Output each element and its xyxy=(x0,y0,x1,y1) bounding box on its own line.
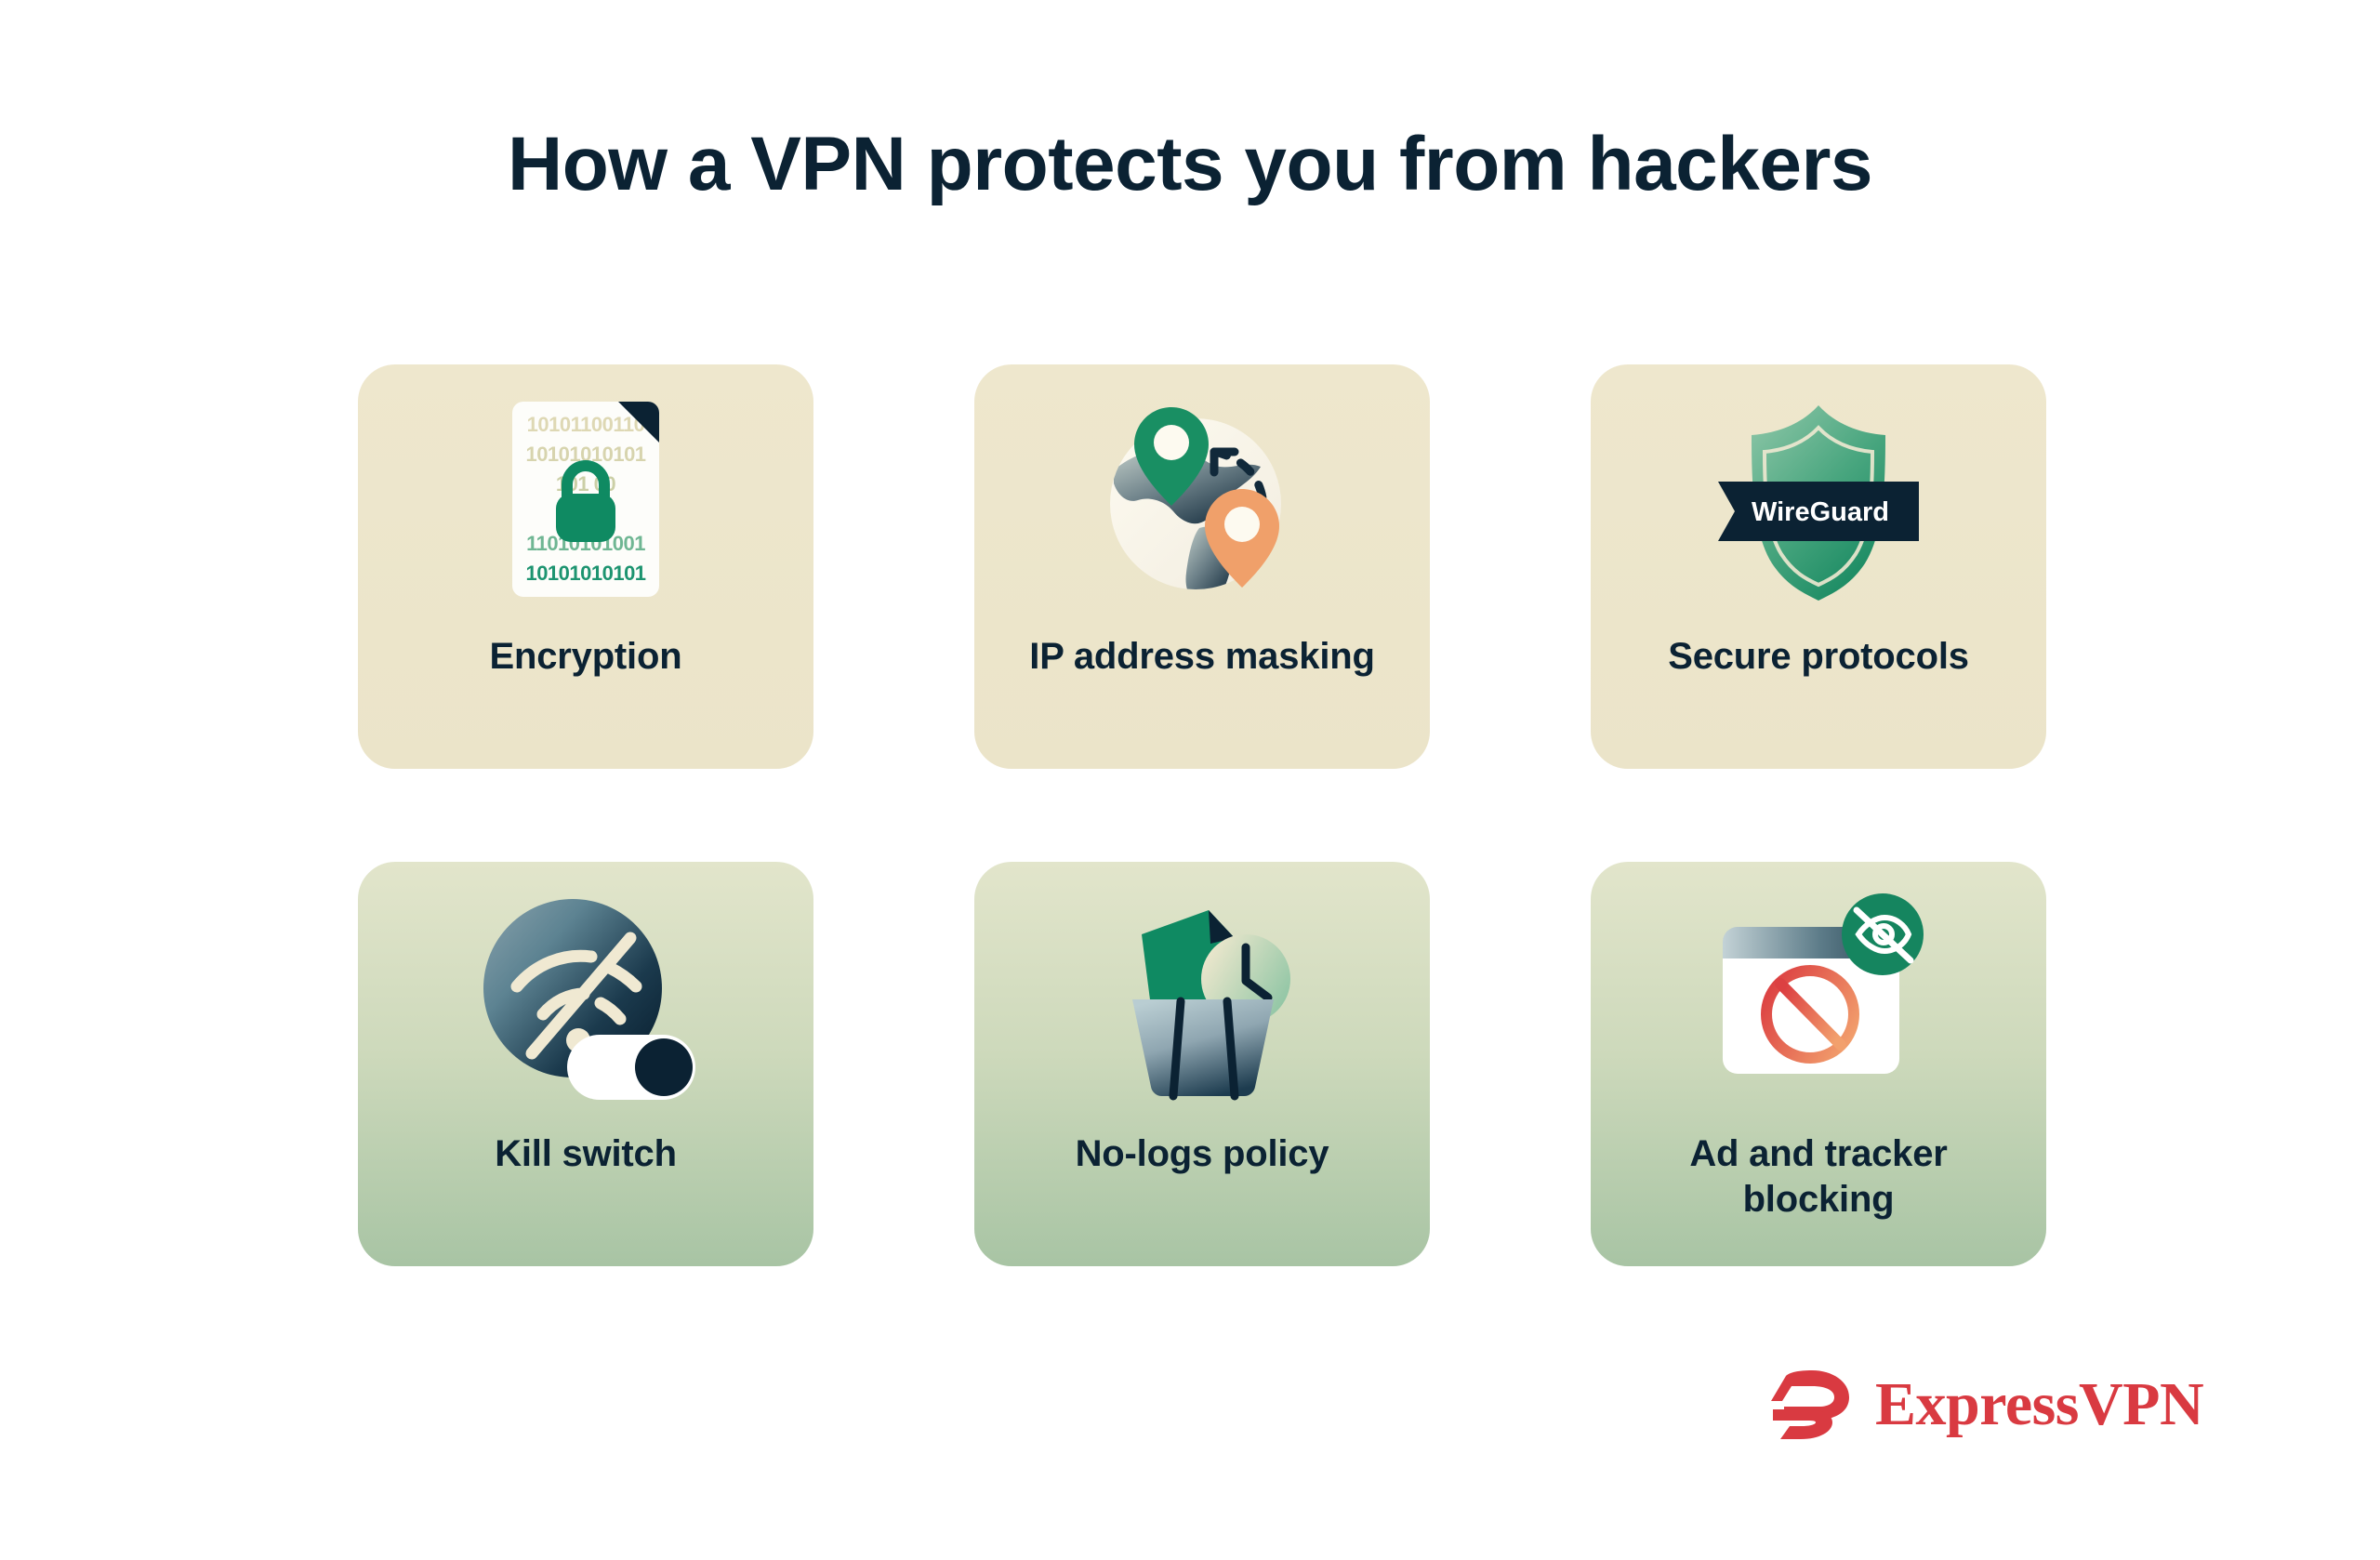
card-label: Ad and tracker blocking xyxy=(1608,1131,2029,1223)
browser-block-eye-off-icon xyxy=(1702,890,1935,1104)
wireguard-banner-text: WireGuard xyxy=(1752,497,1889,527)
feature-card-encryption[interactable]: 10101100110 10101010101 101 00 01 01 110… xyxy=(358,364,813,769)
feature-card-secure-protocols[interactable]: WireGuard Secure protocols xyxy=(1591,364,2046,769)
card-label: Kill switch xyxy=(480,1131,692,1177)
toggle-knob xyxy=(635,1038,693,1096)
card-label: IP address masking xyxy=(1014,634,1389,680)
expressvpn-wordmark: ExpressVPN xyxy=(1875,1374,2203,1435)
feature-card-ad-and-tracker-blocking[interactable]: Ad and tracker blocking xyxy=(1591,862,2046,1266)
feature-card-ip-address-masking[interactable]: IP address masking xyxy=(974,364,1430,769)
card-label: Encryption xyxy=(475,634,697,680)
secure-protocols-icon-area: WireGuard xyxy=(1591,364,2046,634)
wireguard-shield-icon: WireGuard xyxy=(1698,392,1939,606)
eye-off-badge-icon xyxy=(1842,893,1924,975)
encryption-icon-area: 10101100110 10101010101 101 00 01 01 110… xyxy=(358,364,813,634)
ad-blocking-icon-area xyxy=(1591,862,2046,1131)
ip-masking-icon-area xyxy=(974,364,1430,634)
padlock-icon xyxy=(547,456,625,542)
feature-card-kill-switch[interactable]: Kill switch xyxy=(358,862,813,1266)
document-fold-corner-icon xyxy=(618,402,659,443)
wifi-off-toggle-icon xyxy=(474,890,697,1104)
card-label: No-logs policy xyxy=(1061,1131,1344,1177)
card-label: Secure protocols xyxy=(1653,634,1984,680)
trash-document-clock-icon xyxy=(1095,890,1309,1104)
toggle-switch xyxy=(567,1035,695,1100)
expressvpn-e-logo-icon xyxy=(1771,1368,1851,1441)
globe-location-pins-icon xyxy=(1095,392,1309,606)
trash-bin-icon xyxy=(1132,999,1274,1096)
no-logs-icon-area xyxy=(974,862,1430,1131)
page-title: How a VPN protects you from hackers xyxy=(0,123,2380,206)
infographic-page: How a VPN protects you from hackers 1010… xyxy=(0,0,2380,1560)
encrypted-document-icon: 10101100110 10101010101 101 00 01 01 110… xyxy=(512,402,659,597)
kill-switch-icon-area xyxy=(358,862,813,1131)
wireguard-ribbon: WireGuard xyxy=(1718,482,1919,541)
feature-card-no-logs-policy[interactable]: No-logs policy xyxy=(974,862,1430,1266)
expressvpn-logo: ExpressVPN xyxy=(1771,1368,2203,1441)
binary-row: 10101010101 xyxy=(525,559,645,588)
feature-card-grid: 10101100110 10101010101 101 00 01 01 110… xyxy=(358,364,2045,1266)
